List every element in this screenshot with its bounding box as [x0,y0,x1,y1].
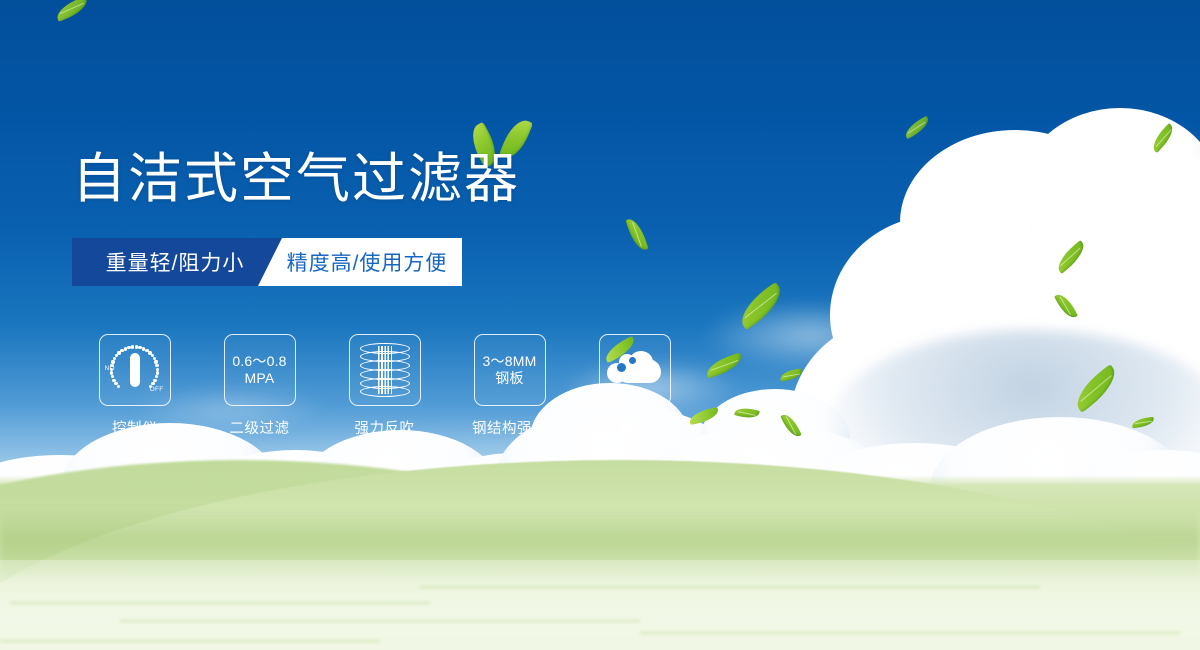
page-title: 自洁式空气过滤器 [72,148,520,210]
feature-label: 二级过滤 [230,417,290,438]
filter-stack-icon [360,343,410,397]
feature-item-controller[interactable]: NO OFF 控制仪 [72,334,197,438]
gauge-tick [112,379,115,382]
gauge-tick [155,364,158,367]
gauge-icon: NO OFF [106,341,164,399]
gauge-tick [131,345,134,348]
feature-icon-box [349,334,421,406]
gauge-tick [117,385,120,388]
tagline-right-text: 精度高/使用方便 [273,247,448,277]
grass-streak [10,602,430,604]
cloud-notch [629,357,636,364]
steel-value-top: 3〜8MM [483,353,537,370]
feature-label: 控制仪 [112,417,157,438]
cloud-notch [617,363,626,372]
grass-streak [640,632,1180,634]
pressure-value-bottom: MPA [245,370,275,387]
feature-item-backblow[interactable]: 强力反吹 [322,334,447,438]
gauge-needle [130,353,140,387]
tagline-left-panel: 重量轻/阻力小 [72,238,282,286]
gauge-tick [155,375,158,378]
air-cloud-icon: Air [605,347,665,393]
tagline-right-panel: 精度高/使用方便 [258,238,462,286]
feature-item-steel-strength[interactable]: 3〜8MM 钢板 钢结构强度 [447,334,572,438]
feature-item-secondary-filter[interactable]: 0.6〜0.8 MPA 二级过滤 [197,334,322,438]
filter-ring [360,386,410,397]
gauge-tick [151,382,154,385]
feature-icon-box: 0.6〜0.8 MPA [224,334,296,406]
feature-list: NO OFF 控制仪 0.6〜0.8 MPA 二级过滤 [72,334,697,438]
gauge-tick [113,357,116,360]
gauge-tick [110,364,113,367]
feature-icon-box: 3〜8MM 钢板 [474,334,546,406]
tagline-bar: 重量轻/阻力小 精度高/使用方便 [72,238,462,286]
grass-highlight [0,560,1200,650]
feature-label: 集尘 [620,417,650,438]
gauge-tick [111,375,114,378]
grass-field [0,475,1200,650]
grass-streak [420,586,1040,588]
gauge-tick [111,360,114,363]
tagline-left-text: 重量轻/阻力小 [106,247,249,277]
steel-value-bottom: 钢板 [495,370,523,387]
feature-label: 强力反吹 [355,417,415,438]
air-label: Air [605,391,665,405]
grass-streak [0,640,380,642]
feature-icon-box: NO OFF [99,334,171,406]
pressure-value-top: 0.6〜0.8 [232,353,286,370]
grass-streak [120,620,640,622]
feature-item-dust-collection[interactable]: Air 集尘 [572,334,697,438]
hero-banner: 自洁式空气过滤器 重量轻/阻力小 精度高/使用方便 NO OFF 控制仪 0.6 [0,0,1200,650]
feature-icon-box: Air [599,334,671,406]
feature-label: 钢结构强度 [472,417,547,438]
gauge-tick [114,382,117,385]
